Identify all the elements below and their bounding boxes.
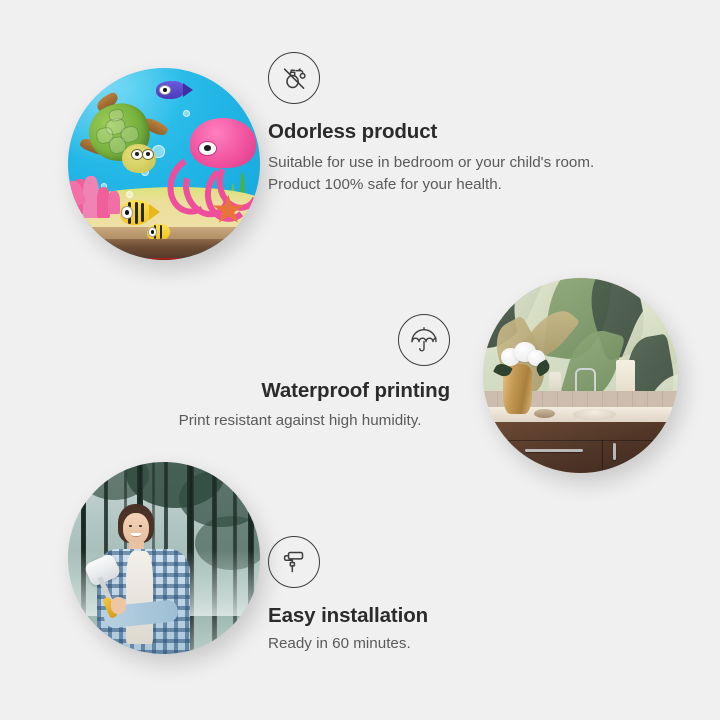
cabinet-handle (613, 443, 616, 460)
bathroom-tropical-wallpaper-photo[interactable] (483, 278, 678, 473)
feature-easy-installation: Easy installation Ready in 60 minutes. (268, 536, 568, 655)
drawer-handle (525, 449, 582, 452)
eye (129, 525, 133, 527)
umbrella-icon (398, 314, 450, 366)
octopus-head (190, 118, 256, 168)
eye (139, 525, 143, 527)
woman-with-roller (87, 504, 206, 654)
turtle-head (122, 144, 156, 173)
cabinet-seam (602, 440, 604, 473)
fish-tail (149, 204, 160, 220)
feature-title: Odorless product (268, 120, 608, 144)
floor-lamp (208, 258, 212, 259)
forest-mural-woman-photo[interactable] (68, 462, 260, 654)
turtle-illustration (83, 101, 171, 178)
feature-title: Easy installation (268, 604, 568, 628)
face (123, 513, 149, 544)
feature-description: Ready in 60 minutes. (268, 633, 568, 655)
forest-scene (68, 462, 260, 654)
smile (131, 533, 141, 538)
bubble-icon (126, 191, 133, 198)
sink-basin (573, 409, 616, 421)
fish-eye (121, 206, 133, 218)
feature-odorless: Odorless product Suitable for use in bed… (268, 52, 608, 195)
feature-title: Waterproof printing (150, 379, 450, 403)
underwater-scene (68, 68, 260, 260)
feature-description: Suitable for use in bedroom or your chil… (268, 152, 608, 195)
cabinet-seam (495, 440, 678, 442)
wood-vanity-cabinet (495, 422, 678, 473)
feature-waterproof: Waterproof printing Print resistant agai… (150, 314, 450, 432)
paint-roller-icon (268, 536, 320, 588)
fish-eye (148, 227, 157, 237)
underwater-kids-mural-photo[interactable] (68, 68, 260, 260)
fish-eye (159, 85, 171, 95)
cabinet-handle (659, 443, 662, 460)
bathroom-scene (483, 278, 678, 473)
inner-tshirt (126, 551, 152, 644)
room-floor-strip (68, 239, 260, 260)
feature-highlights-panel: Odorless product Suitable for use in bed… (0, 0, 720, 720)
no-odor-spray-bottle-icon (268, 52, 320, 104)
octopus-illustration (172, 118, 256, 210)
octopus-eye (198, 141, 217, 156)
turtle-eye (142, 149, 154, 160)
feature-description: Print resistant against high humidity. (150, 410, 450, 432)
blue-fish (156, 81, 185, 98)
red-sofa (110, 258, 198, 260)
hand (111, 597, 126, 613)
fish-tail (183, 83, 193, 97)
coral-icon (108, 191, 120, 214)
icon-row (150, 314, 450, 366)
